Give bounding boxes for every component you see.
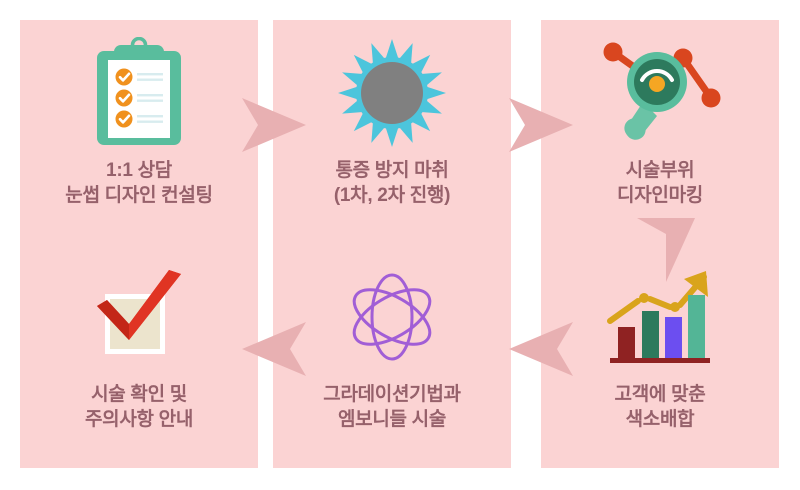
step-label-2: 통증 방지 마취 (1차, 2차 진행) (328, 158, 456, 208)
checkmark-box-icon (74, 256, 204, 378)
clipboard-checklist-icon (74, 32, 204, 154)
step-panel-3-design-marking[interactable]: 시술부위 디자인마킹 (541, 20, 779, 244)
sun-anesthesia-icon (327, 32, 457, 154)
step-panel-2-anesthesia[interactable]: 통증 방지 마취 (1차, 2차 진행) (273, 20, 511, 244)
step-label-1: 1:1 상담 눈썹 디자인 컨설팅 (59, 158, 218, 208)
step-panel-6-confirmation[interactable]: 시술 확인 및 주의사항 안내 (20, 244, 258, 468)
process-flow-diagram: 1:1 상담 눈썹 디자인 컨설팅 (0, 0, 800, 490)
bar-chart-growth-icon (595, 256, 725, 378)
step-label-5: 그라데이션기법과 엠보니들 시술 (317, 382, 466, 432)
step-label-4: 고객에 맞춘 색소배합 (609, 382, 712, 432)
step-panel-4-pigment-mix[interactable]: 고객에 맞춘 색소배합 (541, 244, 779, 468)
step-label-3: 시술부위 디자인마킹 (611, 158, 709, 208)
step-label-6: 시술 확인 및 주의사항 안내 (79, 382, 199, 432)
step-panel-5-gradation-embo[interactable]: 그라데이션기법과 엠보니들 시술 (273, 244, 511, 468)
step-panel-1-consultation[interactable]: 1:1 상담 눈썹 디자인 컨설팅 (20, 20, 258, 244)
magnifier-graph-icon (595, 32, 725, 154)
atom-orbits-icon (327, 256, 457, 378)
